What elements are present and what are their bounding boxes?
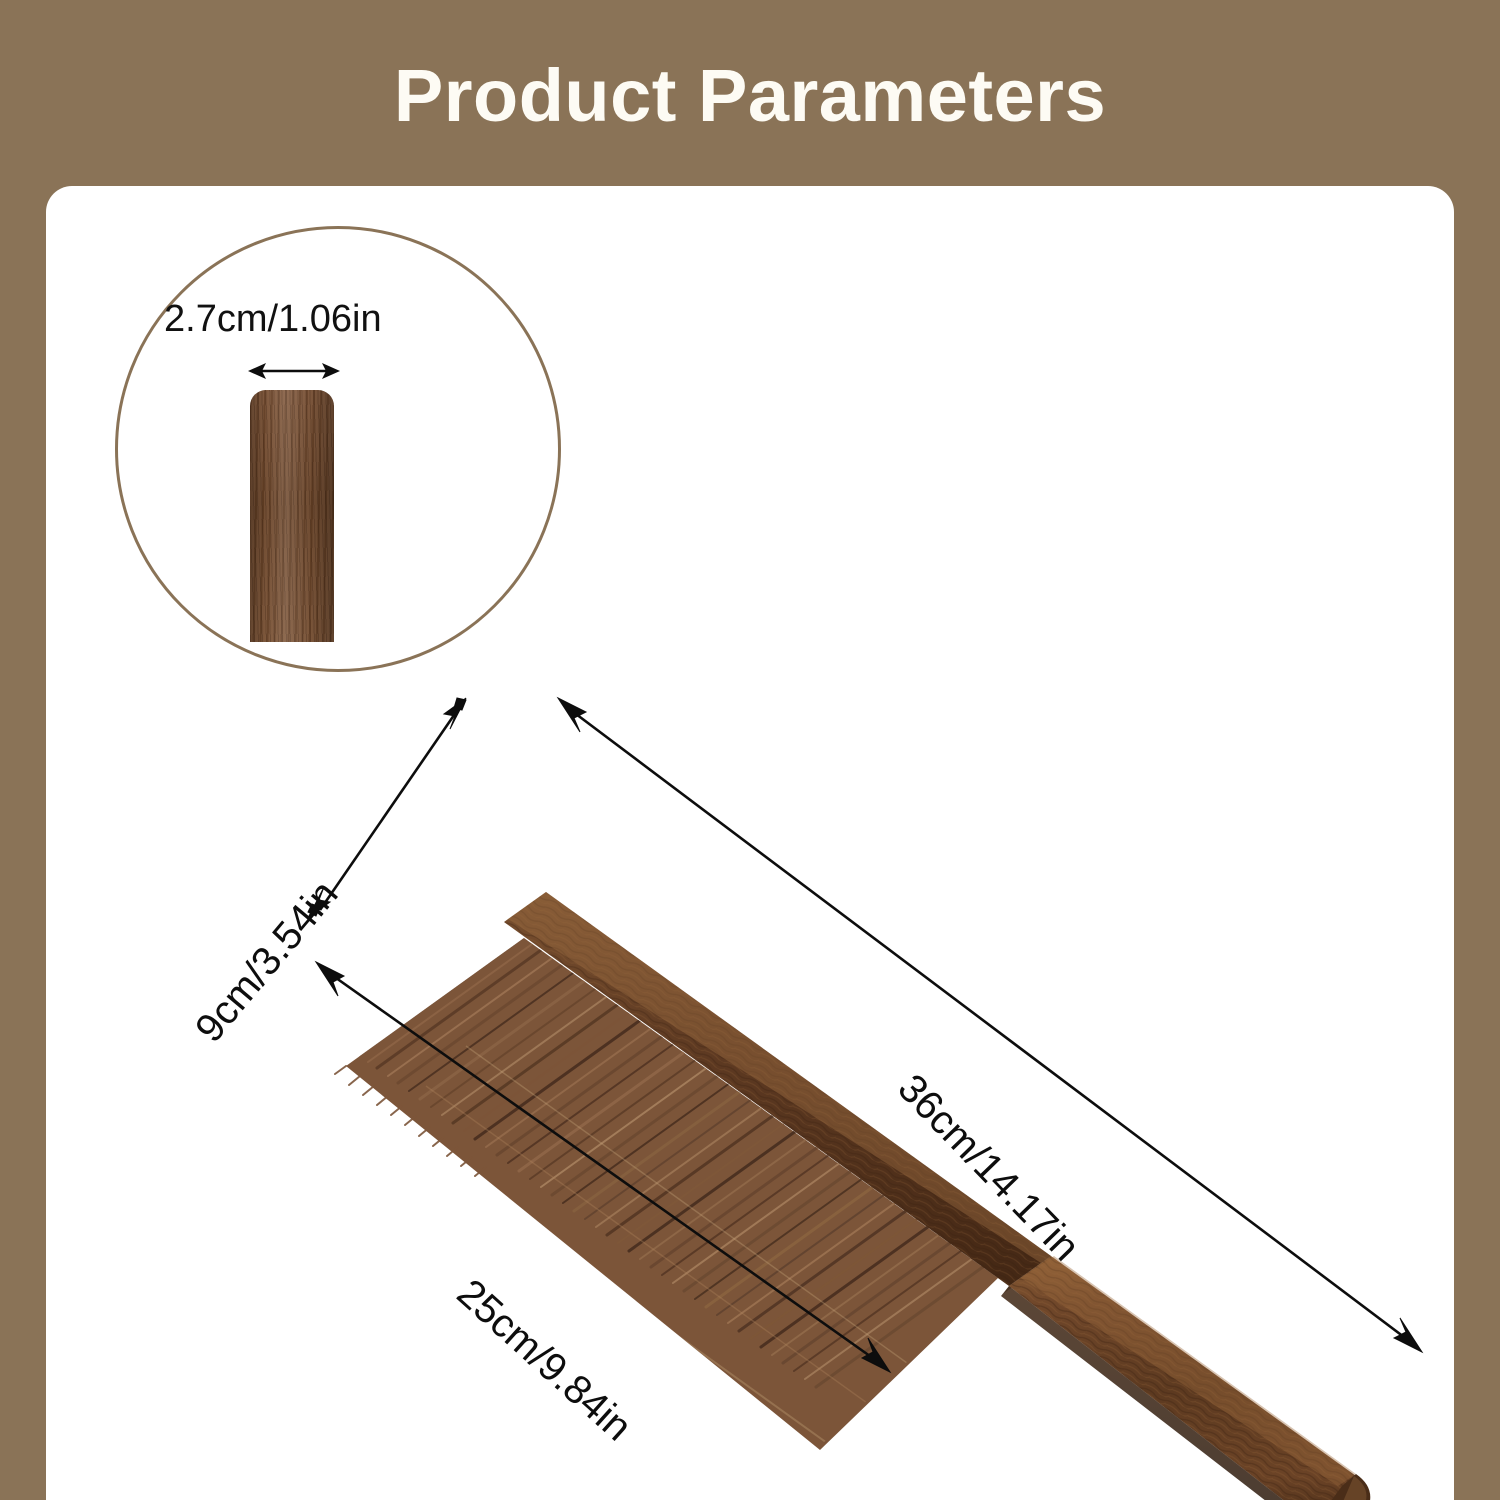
detail-callout-circle	[115, 226, 561, 672]
product-parameters-infographic: Product Parameters	[0, 0, 1500, 1500]
header-band: Product Parameters	[0, 0, 1500, 185]
double-headed-arrow-icon	[246, 358, 342, 384]
page-title: Product Parameters	[394, 59, 1106, 133]
detail-handle-tip	[250, 390, 334, 642]
detail-measurement-label: 2.7cm/1.06in	[164, 298, 382, 341]
brush-handle	[1001, 1256, 1370, 1500]
content-card: 2.7cm/1.06in 9cm/3.54in 36cm/14.17in 25c…	[46, 186, 1454, 1500]
arrow-9cm	[308, 698, 466, 918]
